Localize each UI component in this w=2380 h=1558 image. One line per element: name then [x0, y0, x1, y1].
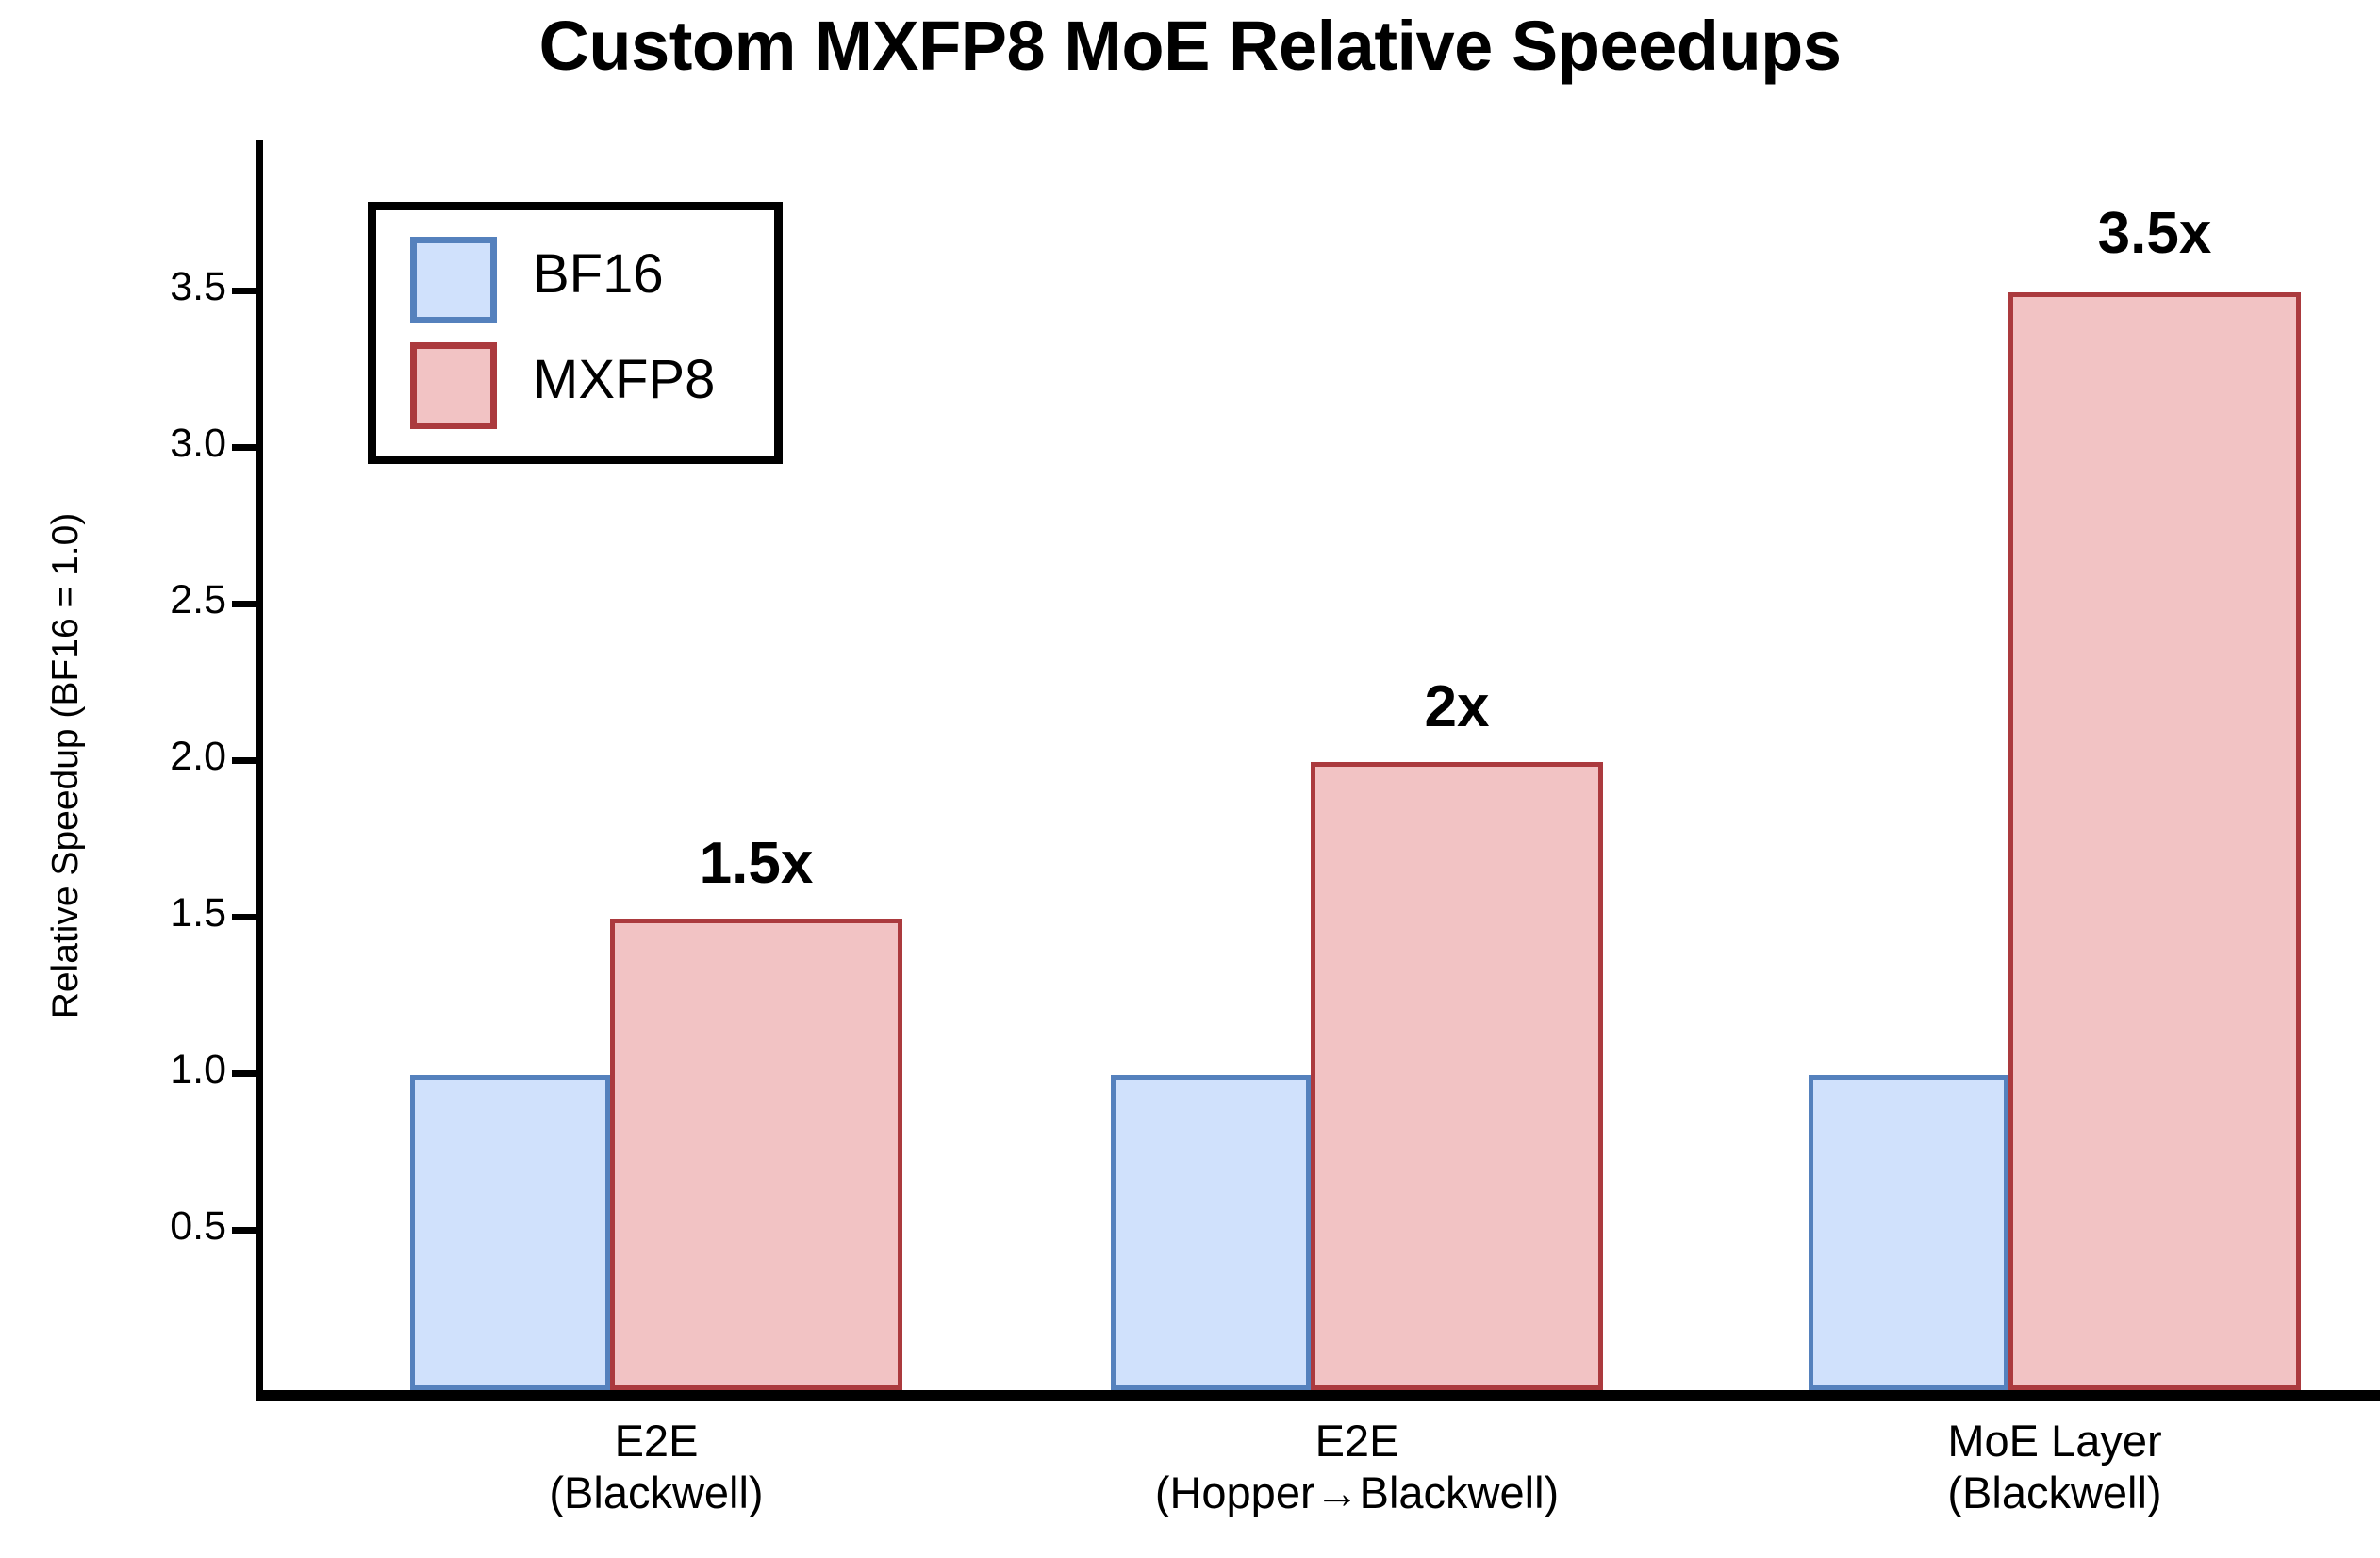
y-tick-label-4: 2.5	[85, 580, 226, 621]
y-tick-mark-1.5	[232, 914, 256, 920]
y-tick-label-2: 1.5	[85, 893, 226, 934]
legend: BF16 MXFP8	[368, 202, 783, 464]
y-tick-mark-3.0	[232, 444, 256, 451]
bar-bf16-e2e-blackwell[interactable]	[410, 1075, 610, 1390]
bar-mxfp8-e2e-hopper-blackwell[interactable]	[1311, 762, 1603, 1390]
y-tick-mark-1.0	[232, 1070, 256, 1077]
x-axis-label-e2e-blackwell: E2E (Blackwell)	[373, 1415, 939, 1519]
x-axis-label-e2e-hopper-blackwell: E2E (Hopper→Blackwell)	[1027, 1415, 1687, 1519]
bar-bf16-e2e-hopper-blackwell[interactable]	[1111, 1075, 1311, 1390]
bar-bf16-moe-layer-blackwell[interactable]	[1809, 1075, 2008, 1390]
bar-mxfp8-e2e-blackwell[interactable]	[610, 919, 902, 1390]
x-axis-label-line2: (Hopper→Blackwell)	[1027, 1467, 1687, 1518]
legend-label-mxfp8: MXFP8	[533, 348, 715, 411]
x-axis-label-line2: (Blackwell)	[373, 1467, 939, 1518]
x-axis-spine	[256, 1390, 2380, 1401]
y-tick-label-3: 2.0	[85, 737, 226, 777]
bar-value-label-2: 3.5x	[2008, 200, 2301, 267]
y-tick-mark-2.0	[232, 757, 256, 764]
bar-value-label-1: 2x	[1311, 673, 1603, 740]
bar-value-label-0: 1.5x	[610, 830, 902, 897]
x-axis-label-line1: E2E	[615, 1416, 699, 1466]
page-title: Custom MXFP8 MoE Relative Speedups	[0, 6, 2380, 86]
x-axis-label-line1: E2E	[1315, 1416, 1399, 1466]
legend-swatch-mxfp8-icon	[410, 342, 497, 429]
x-axis-label-line1: MoE Layer	[1947, 1416, 2161, 1466]
y-tick-label-5: 3.0	[85, 423, 226, 464]
y-tick-mark-3.5	[232, 288, 256, 294]
bar-mxfp8-moe-layer-blackwell[interactable]	[2008, 292, 2301, 1390]
x-axis-label-moe-layer-blackwell: MoE Layer (Blackwell)	[1772, 1415, 2338, 1519]
y-tick-label-1: 1.0	[85, 1050, 226, 1090]
x-axis-label-line2: (Blackwell)	[1772, 1467, 2338, 1518]
y-tick-mark-0.5	[232, 1227, 256, 1234]
legend-item-bf16[interactable]: BF16	[410, 237, 769, 323]
y-tick-mark-2.5	[232, 601, 256, 607]
y-tick-label-6: 3.5	[85, 267, 226, 307]
y-axis-title: Relative Speedup (BF16 = 1.0)	[45, 407, 87, 1124]
legend-item-mxfp8[interactable]: MXFP8	[410, 342, 769, 429]
legend-label-bf16: BF16	[533, 242, 664, 306]
legend-swatch-bf16-icon	[410, 237, 497, 323]
y-tick-label-0: 0.5	[85, 1206, 226, 1247]
y-axis-spine	[256, 140, 263, 1396]
